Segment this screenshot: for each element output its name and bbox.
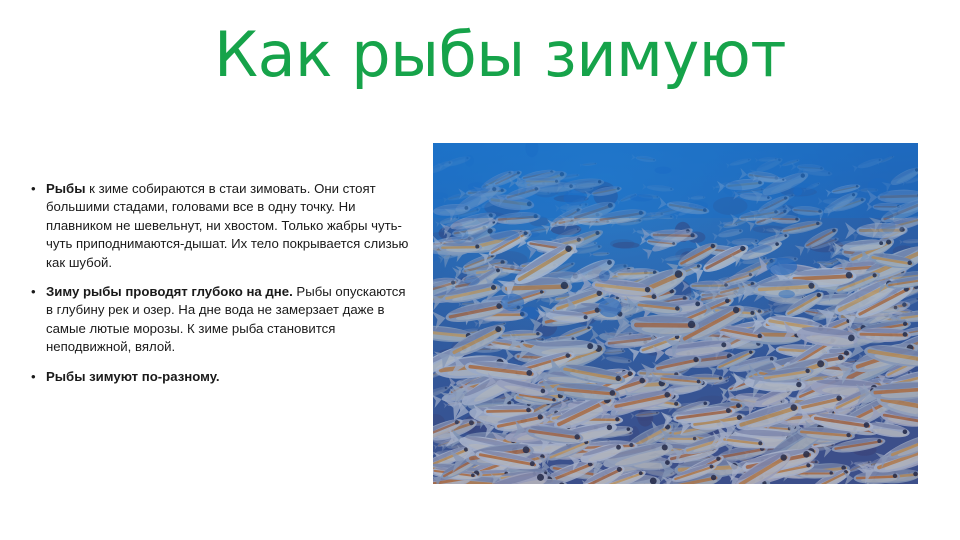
bullet-point-icon: • <box>31 283 36 301</box>
bullet-lead-text: Зиму рыбы проводят глубоко на дне. <box>46 284 293 299</box>
slide-canvas: Как рыбы зимуют • Рыбы к зиме собираются… <box>0 0 960 540</box>
fish-school-photo <box>433 143 918 484</box>
list-item: • Зиму рыбы проводят глубоко на дне. Рыб… <box>26 283 416 357</box>
bullet-point-icon: • <box>31 180 36 198</box>
bullet-lead-text: Рыбы зимуют по-разному. <box>46 369 220 384</box>
bullet-list: • Рыбы к зиме собираются в стаи зимовать… <box>26 180 416 386</box>
bullet-body-text: к зиме собираются в стаи зимовать. Они с… <box>46 181 408 270</box>
bullet-lead-text: Рыбы <box>46 181 85 196</box>
list-item: • Рыбы к зиме собираются в стаи зимовать… <box>26 180 416 272</box>
list-item: • Рыбы зимуют по-разному. <box>26 368 416 386</box>
page-title: Как рыбы зимуют <box>60 22 940 89</box>
bullet-point-icon: • <box>31 368 36 386</box>
fish-school-illustration <box>433 143 918 484</box>
